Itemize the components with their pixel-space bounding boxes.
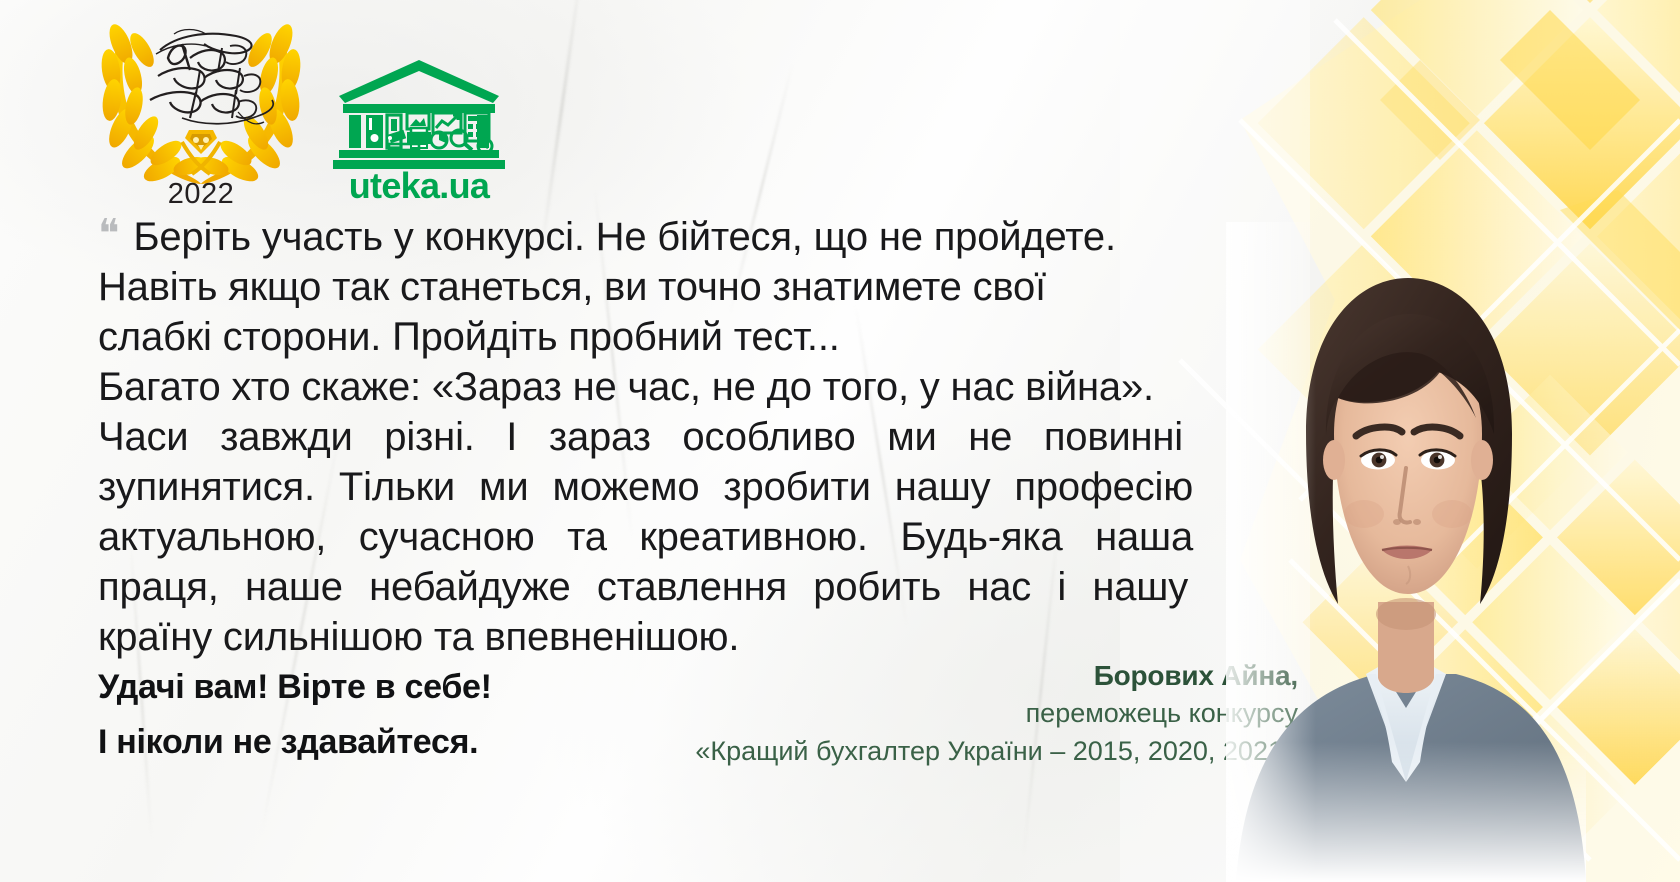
quote-line-2: Навіть якщо так станеться, ви точно знат… — [98, 262, 1228, 312]
award-logo: 2022 — [86, 14, 316, 209]
logo-group: 2022 — [86, 14, 506, 204]
brand-logo[interactable]: uteka.ua — [329, 58, 509, 203]
quote-line-1: ❝Беріть участь у конкурсі. Не бійтеся, щ… — [98, 212, 1228, 262]
quote-line-7: актуальною, сучасною та креативною. Будь… — [98, 512, 1193, 562]
award-year: 2022 — [86, 178, 316, 211]
laurel-right — [193, 21, 302, 186]
portrait-photo — [1226, 222, 1586, 882]
quote-line-8: праця, наше небайдуже ставлення робить н… — [98, 562, 1188, 612]
brand-wordmark: uteka.ua — [329, 165, 509, 207]
quote-line-4: Багато хто скаже: «Зараз не час, не до т… — [98, 362, 1228, 412]
laurel-left — [99, 21, 208, 186]
quote-line-9: країну сильнішою та впевненішою. — [98, 612, 1228, 662]
quote-line-5: Часи завжди різні. І зараз особливо ми н… — [98, 412, 1183, 462]
attribution-name: Борових Айна, — [538, 658, 1298, 694]
quote-line-1-text: Беріть участь у конкурсі. Не бійтеся, що… — [133, 215, 1116, 259]
poster-card: 2022 — [0, 0, 1680, 882]
bank-building-icon — [329, 58, 509, 173]
quote-line-6: зупинятися. Тільки ми можемо зробити наш… — [98, 462, 1193, 512]
quote-text: ❝Беріть участь у конкурсі. Не бійтеся, щ… — [98, 212, 1228, 662]
quote-open-mark: ❝ — [98, 214, 119, 254]
crest-icon — [185, 130, 217, 154]
attribution: Борових Айна, переможець конкурсу «Кращи… — [538, 658, 1298, 770]
attribution-role: переможець конкурсу — [538, 694, 1298, 732]
attribution-contest: «Кращий бухгалтер України – 2015, 2020, … — [538, 732, 1298, 770]
quote-line-3: слабкі сторони. Пройдіть пробний тест... — [98, 312, 1228, 362]
